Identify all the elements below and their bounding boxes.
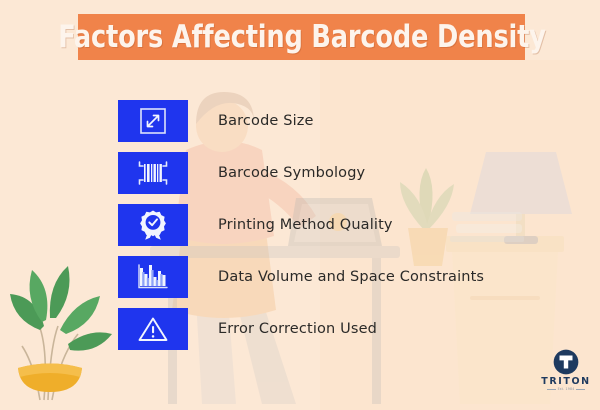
list-item-label: Printing Method Quality — [218, 217, 393, 233]
icon-box — [118, 204, 188, 246]
list-item: Printing Method Quality — [118, 204, 588, 246]
factor-list: Barcode Size — [118, 100, 588, 360]
list-item: Barcode Size — [118, 100, 588, 142]
list-item: Data Volume and Space Constraints — [118, 256, 588, 298]
triton-monogram-icon — [553, 349, 579, 375]
logo-tagline-row: Est. 1984 — [540, 388, 592, 391]
logo-rule-left — [547, 389, 556, 390]
list-item-label: Barcode Symbology — [218, 165, 365, 181]
icon-box — [118, 308, 188, 350]
infographic-poster: Factors Affecting Barcode Density Barcod… — [0, 0, 600, 410]
triton-logo: TRITON Est. 1984 — [540, 349, 592, 391]
list-item-label: Barcode Size — [218, 113, 314, 129]
logo-rule-right — [576, 389, 585, 390]
icon-box — [118, 100, 188, 142]
list-item: Error Correction Used — [118, 308, 588, 350]
warning-triangle-icon — [136, 314, 170, 344]
page-title: Factors Affecting Barcode Density — [58, 22, 546, 53]
list-item-label: Error Correction Used — [218, 321, 377, 337]
icon-box — [118, 152, 188, 194]
resize-diagonal-arrow-icon — [137, 105, 169, 137]
award-ribbon-check-icon — [138, 209, 168, 241]
list-item: Barcode Symbology — [118, 152, 588, 194]
logo-wordmark: TRITON — [540, 377, 592, 387]
icon-box — [118, 256, 188, 298]
potted-plant-illustration — [10, 266, 112, 400]
barcode-scan-icon — [136, 158, 170, 188]
logo-tagline: Est. 1984 — [558, 388, 575, 391]
list-item-label: Data Volume and Space Constraints — [218, 269, 484, 285]
bar-chart-icon — [136, 262, 170, 292]
poster-title-banner: Factors Affecting Barcode Density — [78, 14, 525, 60]
